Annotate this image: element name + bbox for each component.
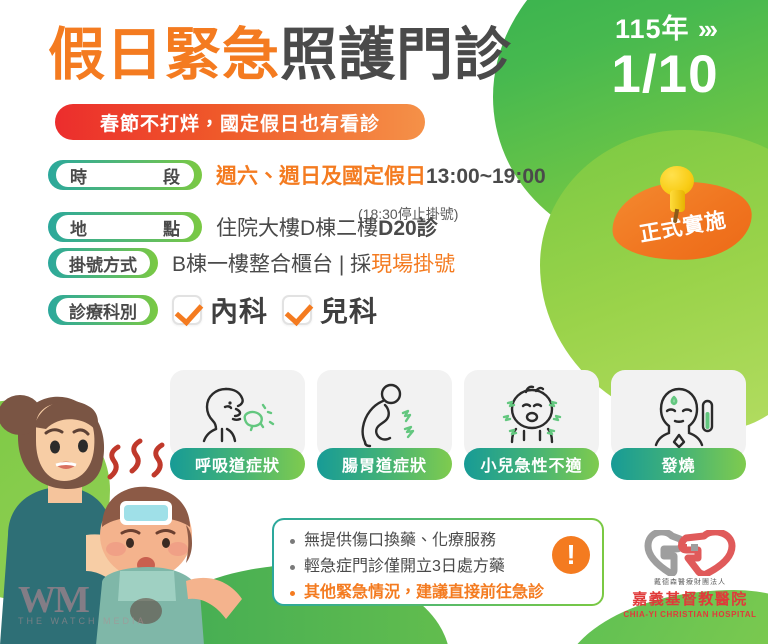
info-section: 時 段 週六、週日及國定假日13:00~19:00 (18:30停止掛號) 地 …: [48, 160, 546, 336]
notice-box: 無提供傷口換藥、化療服務 輕急症門診僅開立3日處方藥 其他緊急情況，建議直接前往…: [272, 518, 604, 606]
date-year-row: 115年 ›››: [575, 14, 755, 44]
info-tag-registration-label: 掛號方式: [69, 251, 137, 276]
poster-header: 假日緊急照護門診 春節不打烊，國定假日也有看診 115年 ››› 1/10: [0, 0, 768, 160]
info-tag-time: 時 段: [48, 160, 202, 190]
symptom-card-pill: 小兒急性不適: [464, 448, 599, 480]
watermark: WM THE WATCH MEDIA: [18, 582, 147, 626]
info-tag-registration: 掛號方式: [48, 248, 158, 278]
symptom-card-label: 發燒: [661, 452, 695, 476]
info-row-registration: 掛號方式 B棟一樓整合櫃台 | 採現場掛號: [48, 248, 546, 278]
info-value-registration-text: B棟一樓整合櫃台 | 採: [172, 253, 371, 276]
info-value-time-days: 週六、週日及國定假日: [216, 165, 426, 188]
info-tag-location-label: 地 點: [56, 215, 194, 240]
status-badge: 正式實施: [612, 182, 752, 260]
checkbox-checked-icon[interactable]: [282, 295, 312, 325]
logo-org-prefix: 戴德森醫療財團法人: [620, 577, 760, 587]
title-orange-part: 假日緊急: [48, 23, 280, 87]
notice-item-highlighted: 其他緊急情況，建議直接前往急診: [288, 580, 592, 606]
logo-hospital-name-en: CHIA-YI CHRISTIAN HOSPITAL: [620, 610, 760, 619]
double-heart-logo-icon: [620, 530, 760, 576]
info-value-registration: B棟一樓整合櫃台 | 採現場掛號: [172, 248, 455, 278]
date-block: 115年 ››› 1/10: [575, 14, 755, 104]
info-row-location: 地 點 住院大樓D棟二樓D20診: [48, 212, 546, 242]
date-year-text: 115年: [615, 14, 690, 44]
info-value-location: 住院大樓D棟二樓D20診: [216, 212, 438, 242]
notice-inner: 無提供傷口換藥、化療服務 輕急症門診僅開立3日處方藥 其他緊急情況，建議直接前往…: [274, 520, 602, 604]
stomach-ache-person-icon: [317, 370, 452, 458]
symptom-card-list: 呼吸道症狀 腸胃道症狀: [170, 370, 746, 480]
info-row-departments: 診療科別 內科 兒科: [48, 290, 546, 330]
symptom-card-label: 腸胃道症狀: [342, 452, 427, 476]
poster-canvas: 假日緊急照護門診 春節不打烊，國定假日也有看診 115年 ››› 1/10 正式…: [0, 0, 768, 644]
symptom-card-label: 小兒急性不適: [480, 452, 582, 476]
info-row-time: 時 段 週六、週日及國定假日13:00~19:00 (18:30停止掛號): [48, 160, 546, 190]
date-value: 1/10: [575, 46, 755, 104]
symptom-card: 腸胃道症狀: [317, 370, 452, 480]
symptom-card: 小兒急性不適: [464, 370, 599, 480]
info-tag-location: 地 點: [48, 212, 202, 242]
notice-list: 無提供傷口換藥、化療服務 輕急症門診僅開立3日處方藥 其他緊急情況，建議直接前往…: [288, 528, 592, 606]
exclamation-icon: !: [552, 536, 590, 574]
checkbox-checked-icon[interactable]: [172, 295, 202, 325]
symptom-card: 呼吸道症狀: [170, 370, 305, 480]
symptom-card-pill: 發燒: [611, 448, 746, 480]
department-label: 兒科: [320, 290, 378, 330]
department-label: 內科: [210, 290, 268, 330]
info-tag-departments: 診療科別: [48, 295, 158, 325]
coughing-person-icon: [170, 370, 305, 458]
notice-item: 輕急症門診僅開立3日處方藥: [288, 554, 592, 580]
hospital-logo: 戴德森醫療財團法人 嘉義基督教醫院 CHIA-YI CHRISTIAN HOSP…: [620, 530, 760, 619]
chevron-right-icon: ›››: [698, 14, 715, 44]
symptom-card-pill: 腸胃道症狀: [317, 448, 452, 480]
subtitle-text: 春節不打烊，國定假日也有看診: [100, 109, 380, 136]
info-value-registration-highlight: 現場掛號: [371, 253, 455, 276]
symptom-card-pill: 呼吸道症狀: [170, 448, 305, 480]
symptom-card: 發燒: [611, 370, 746, 480]
crying-baby-icon: [464, 370, 599, 458]
department-internal-medicine[interactable]: 內科: [172, 290, 268, 330]
symptom-card-label: 呼吸道症狀: [195, 452, 280, 476]
watermark-mark: WM: [18, 582, 147, 618]
fever-thermometer-icon: [611, 370, 746, 458]
info-value-time: 週六、週日及國定假日13:00~19:00: [216, 160, 546, 190]
info-value-location-room: D20診: [378, 217, 438, 240]
watermark-text: THE WATCH MEDIA: [18, 616, 147, 626]
info-value-time-hours: 13:00~19:00: [426, 165, 546, 188]
notice-item: 無提供傷口換藥、化療服務: [288, 528, 592, 554]
department-pediatrics[interactable]: 兒科: [282, 290, 378, 330]
info-tag-departments-label: 診療科別: [69, 298, 137, 323]
logo-hospital-name: 嘉義基督教醫院: [620, 588, 760, 609]
info-tag-time-label: 時 段: [56, 163, 194, 188]
info-value-location-text: 住院大樓D棟二樓: [216, 217, 378, 240]
title-gray-part: 照護門診: [280, 23, 512, 87]
subtitle-banner: 春節不打烊，國定假日也有看診: [55, 104, 425, 140]
exclamation-glyph: !: [566, 540, 575, 570]
page-title: 假日緊急照護門診: [48, 24, 512, 86]
